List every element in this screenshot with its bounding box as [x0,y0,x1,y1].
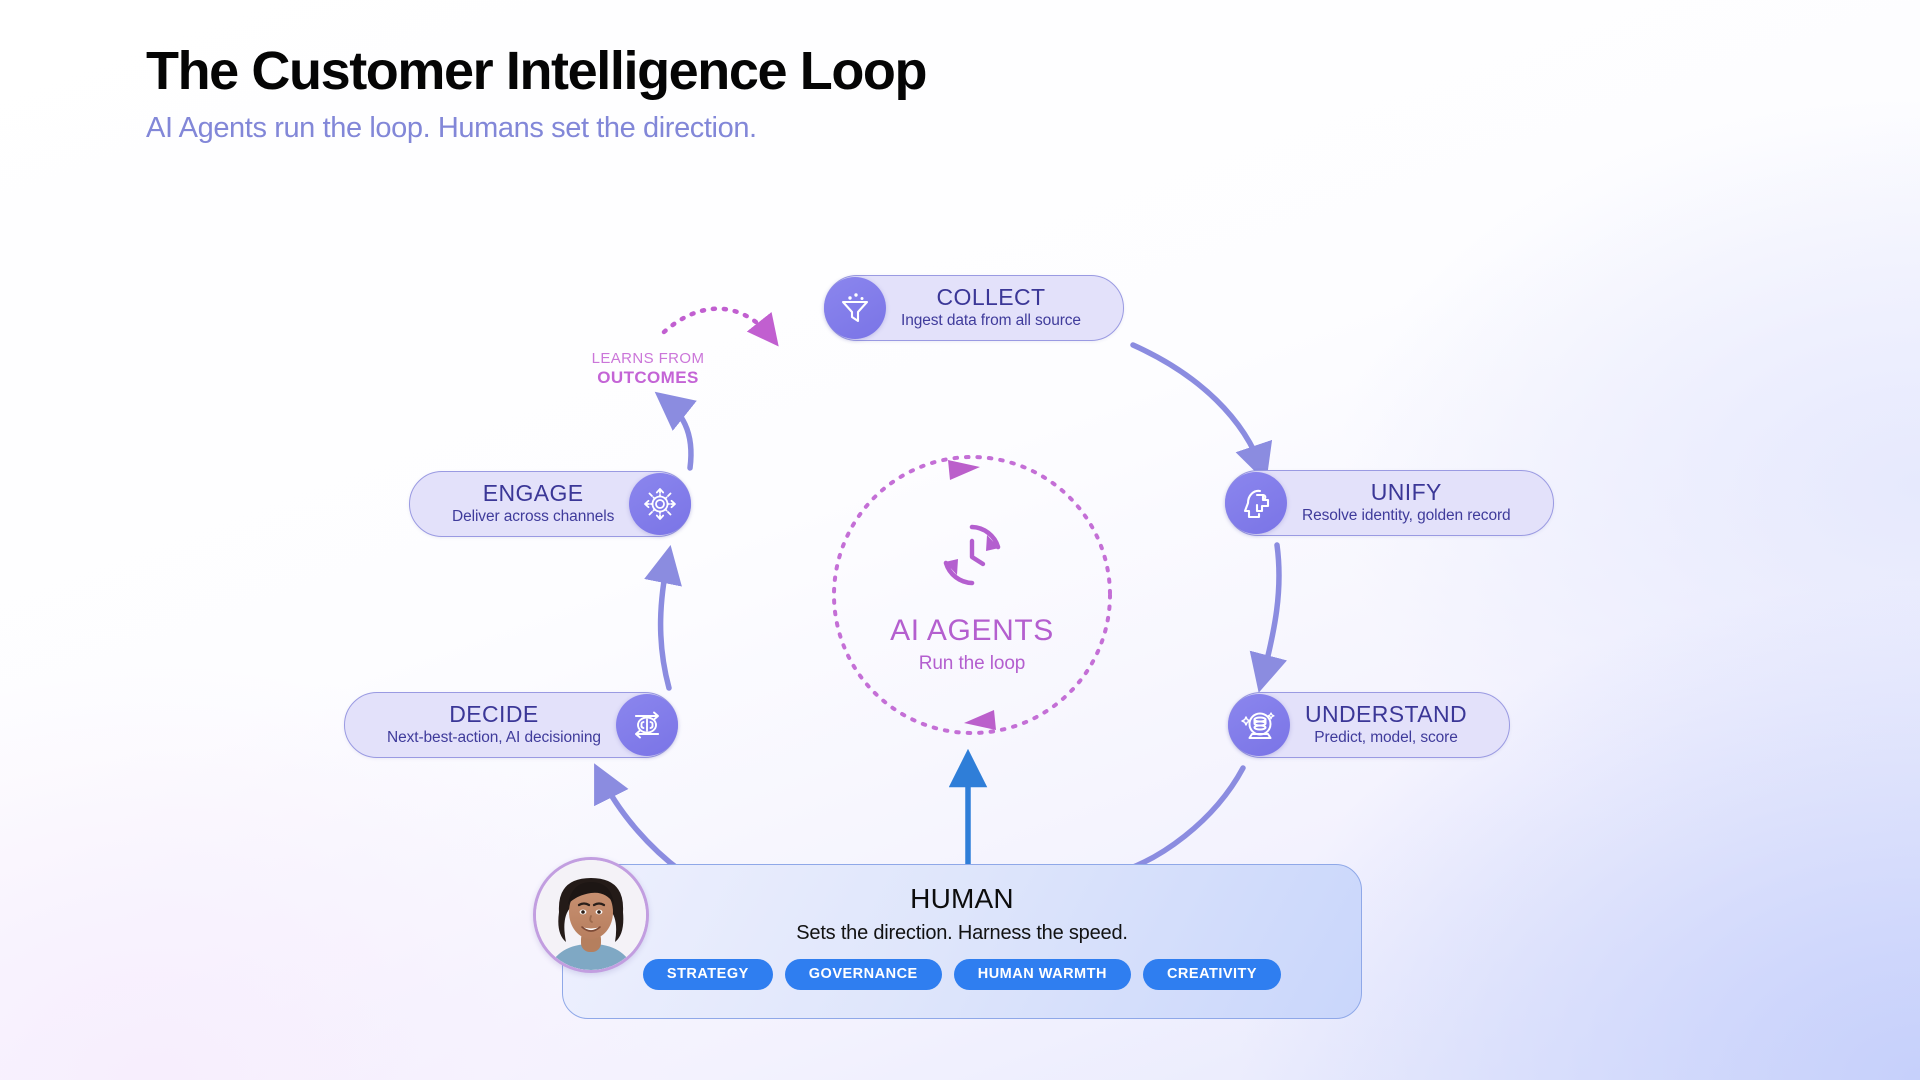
learns-from-outcomes-label: LEARNS FROM OUTCOMES [578,350,718,388]
node-title: COLLECT [937,285,1046,309]
arrow-engage-to-outcomes [665,400,691,468]
node-desc: Predict, model, score [1314,728,1458,747]
node-desc: Resolve identity, golden record [1302,506,1511,525]
loop-node-understand[interactable]: UNDERSTAND Predict, model, score [1228,692,1510,758]
node-desc: Next-best-action, AI decisioning [387,728,601,747]
node-text: COLLECT Ingest data from all source [885,285,1097,331]
header: The Customer Intelligence Loop AI Agents… [146,40,926,145]
loop-node-engage[interactable]: ENGAGE Deliver across channels [409,471,691,537]
human-tag-governance[interactable]: GOVERNANCE [785,959,942,990]
loop-node-collect[interactable]: COLLECT Ingest data from all source [824,275,1124,341]
page-title: The Customer Intelligence Loop [146,40,926,102]
feedback-label-line2: OUTCOMES [578,368,718,388]
page-subtitle: AI Agents run the loop. Humans set the d… [146,112,926,145]
human-card[interactable]: HUMAN Sets the direction. Harness the sp… [562,864,1362,1019]
hub-dotted-ring [830,453,1114,737]
head-puzzle-icon [1225,472,1287,534]
node-title: DECIDE [449,702,538,726]
node-text: UNDERSTAND Predict, model, score [1289,702,1483,748]
node-text: ENGAGE Deliver across channels [436,481,630,527]
gear-broadcast-icon [629,473,691,535]
human-subtitle: Sets the direction. Harness the speed. [796,922,1127,945]
feedback-label-line1: LEARNS FROM [578,350,718,368]
diagram-canvas: The Customer Intelligence Loop AI Agents… [0,0,1920,1080]
human-tag-list: STRATEGY GOVERNANCE HUMAN WARMTH CREATIV… [643,959,1281,990]
loop-node-decide[interactable]: DECIDE Next-best-action, AI decisioning [344,692,678,758]
human-title: HUMAN [910,885,1014,913]
node-text: UNIFY Resolve identity, golden record [1286,480,1527,526]
arrow-understand-to-human [1110,768,1243,875]
arrow-outcomes-to-collect [664,309,772,338]
human-tag-creativity[interactable]: CREATIVITY [1143,959,1281,990]
node-title: ENGAGE [483,481,584,505]
node-text: DECIDE Next-best-action, AI decisioning [371,702,617,748]
arrow-human-to-decide [600,775,682,872]
loop-node-unify[interactable]: UNIFY Resolve identity, golden record [1225,470,1554,536]
arrow-decide-to-engage [661,558,669,688]
funnel-icon [824,277,886,339]
human-tag-human-warmth[interactable]: HUMAN WARMTH [954,959,1131,990]
ai-agents-hub: AI AGENTS Run the loop [830,453,1114,737]
node-desc: Ingest data from all source [901,311,1081,330]
node-title: UNIFY [1371,480,1442,504]
node-title: UNDERSTAND [1305,702,1467,726]
node-desc: Deliver across channels [452,507,614,526]
arrow-collect-to-unify [1133,345,1262,470]
human-tag-strategy[interactable]: STRATEGY [643,959,773,990]
arrow-unify-to-understand [1262,545,1279,680]
brain-swap-icon [616,694,678,756]
crystal-ball-icon [1228,694,1290,756]
avatar [533,857,649,973]
